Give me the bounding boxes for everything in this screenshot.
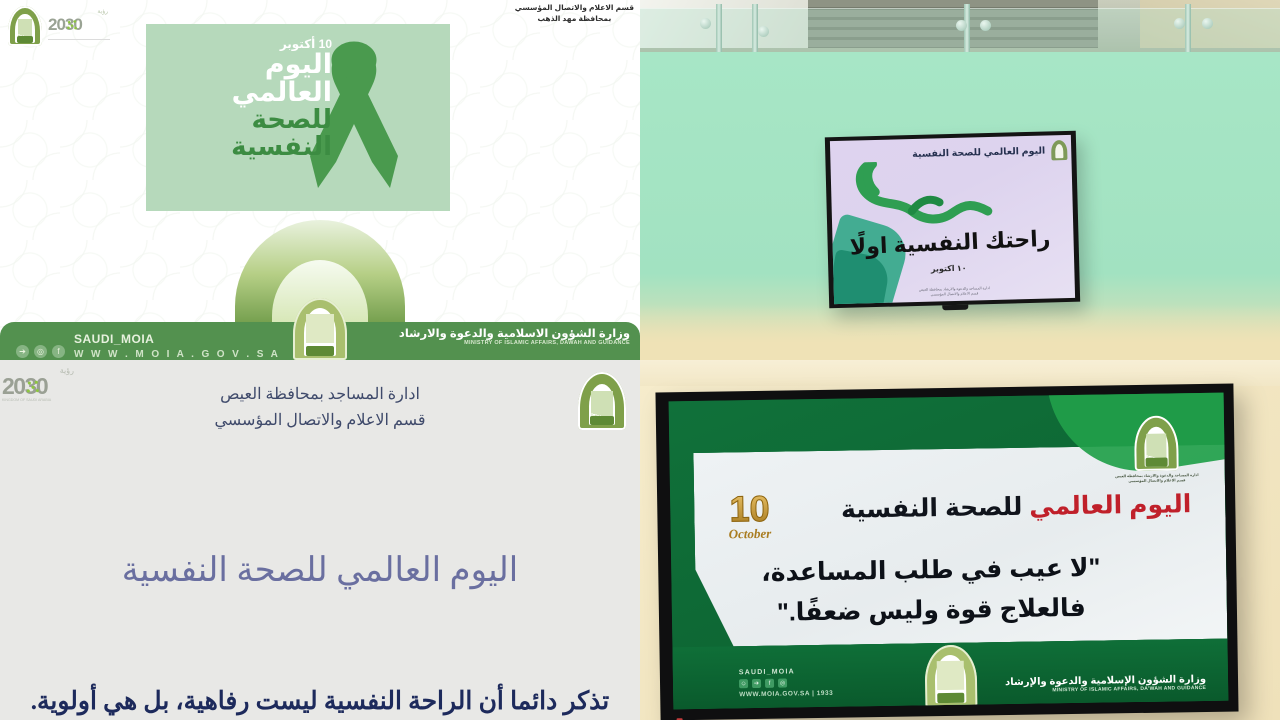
department-line-1: قسم الاعلام والاتصال المؤسسي — [515, 2, 634, 13]
large-wall-tv: ادارة المساجد والدعوة والارشاد بمحافظة ا… — [655, 383, 1238, 720]
social-icon-group: ☺ ➔ f ◎ — [739, 678, 833, 688]
tv-screen-title: اليوم العالمي للصحة النفسية — [912, 146, 1045, 160]
tv-mount — [942, 305, 968, 311]
department-caption: قسم الاعلام والاتصال المؤسسي بمحافظة مهد… — [515, 2, 634, 24]
screen-title-red: اليوم العالمي — [1029, 490, 1191, 521]
screen-title: اليوم العالمي للصحة النفسية — [841, 489, 1192, 524]
poster-footer-bar: ➔ ◎ f SAUDI_MOIA W W W . M O I A . G O V… — [0, 322, 640, 360]
moia-mihrab-logo-icon — [8, 6, 42, 46]
social-handle: SAUDI_MOIA — [739, 668, 833, 676]
social-handle: SAUDI_MOIA — [74, 332, 154, 346]
card-line-1: اليوم — [182, 51, 332, 79]
website-url: W W W . M O I A . G O V . S A — [74, 349, 280, 360]
ministry-name-block: وزارة الشؤون الإسلامية والدعوة والإرشاد … — [1005, 674, 1206, 694]
facebook-icon: f — [765, 679, 774, 688]
ministry-name-ar: وزارة الشؤون الاسلامية والدعوة والارشاد — [399, 326, 630, 340]
room-wall — [640, 360, 1280, 386]
instagram-icon: ◎ — [778, 679, 787, 688]
instagram-icon: ◎ — [34, 345, 47, 358]
ministry-name-block: وزارة الشؤون الاسلامية والدعوة والارشاد … — [399, 326, 630, 346]
screen-footer-bar: SAUDI_MOIA ☺ ➔ f ◎ WWW.MOIA.GOV.SA | 193… — [672, 639, 1228, 710]
day-badge: 10 October — [728, 492, 771, 543]
card-line-4: النفسية — [182, 133, 332, 160]
moia-mihrab-logo-icon — [1134, 415, 1179, 471]
railing-bracket — [980, 20, 991, 31]
railing-bracket — [956, 20, 967, 31]
big-tv-panel: ادارة المساجد والدعوة والارشاد بمحافظة ا… — [640, 360, 1280, 720]
ministry-name-en: MINISTRY OF ISLAMIC AFFAIRS, DAWAH AND G… — [399, 340, 630, 346]
moia-footer-badge-icon — [924, 645, 977, 708]
tv-screen-content: اليوم العالمي للصحة النفسية راحتك النفسي… — [830, 135, 1075, 304]
moia-mini-logo-icon — [1051, 140, 1068, 160]
wall-mounted-tv: اليوم العالمي للصحة النفسية راحتك النفسي… — [825, 131, 1080, 309]
slide-panel: رؤية 2030 KINGDOM OF SAUDI ARABIA ادارة … — [0, 360, 640, 720]
screen-title-black: للصحة النفسية — [841, 493, 1023, 524]
day-number: 10 — [728, 492, 771, 527]
vision-2030-logo-icon: رؤية 2030 — [48, 8, 110, 40]
card-line-3: للصحة — [182, 106, 332, 133]
social-icon-group: ➔ ◎ f — [16, 345, 65, 358]
card-line-2: العالمي — [182, 79, 332, 107]
twitter-icon: ➔ — [16, 345, 29, 358]
slide-header-line-2: قسم الاعلام والاتصال المؤسسي — [0, 408, 640, 434]
month-name: October — [729, 526, 772, 543]
slide-header: ادارة المساجد بمحافظة العيص قسم الاعلام … — [0, 382, 640, 434]
railing-post — [1185, 4, 1191, 52]
railing-bracket — [1202, 18, 1213, 29]
website-url: WWW.MOIA.GOV.SA | 1933 — [739, 690, 833, 698]
railing-bracket — [1174, 18, 1185, 29]
wall-floor-gradient — [640, 304, 1280, 360]
railing-bracket — [700, 18, 711, 29]
slide-header-line-1: ادارة المساجد بمحافظة العيص — [0, 382, 640, 408]
logo-caption: ادارة المساجد والدعوة والارشاد بمحافظة ا… — [1105, 473, 1209, 485]
railing-post — [752, 4, 758, 52]
snapchat-icon: ☺ — [739, 679, 748, 688]
tv-screen-content: ادارة المساجد والدعوة والارشاد بمحافظة ا… — [669, 393, 1229, 710]
image-collage: رؤية 2030 قسم الاعلام والاتصال المؤسسي ب… — [0, 0, 1280, 720]
mental-health-day-card: 10 أكتوبر اليوم العالمي للصحة النفسية — [146, 24, 450, 211]
twitter-icon: ➔ — [752, 679, 761, 688]
flowing-ribbon-icon — [852, 159, 999, 229]
poster-panel: رؤية 2030 قسم الاعلام والاتصال المؤسسي ب… — [0, 0, 640, 360]
slide-title: اليوم العالمي للصحة النفسية — [0, 550, 640, 590]
railing-bracket — [758, 26, 769, 37]
upper-floor-area — [640, 0, 1280, 52]
slide-quote: تذكر دائما أن الراحة النفسية ليست رفاهية… — [0, 686, 640, 716]
moia-footer-badge-icon — [293, 298, 347, 360]
wall-tv-panel: اليوم العالمي للصحة النفسية راحتك النفسي… — [640, 0, 1280, 360]
railing-post — [716, 4, 722, 52]
footer-left-block: SAUDI_MOIA ☺ ➔ f ◎ WWW.MOIA.GOV.SA | 193… — [739, 668, 833, 698]
vision-year: 2030 — [48, 16, 110, 34]
card-text-block: 10 أكتوبر اليوم العالمي للصحة النفسية — [182, 38, 332, 159]
department-line-2: بمحافظة مهد الذهب — [515, 13, 634, 24]
facebook-icon: f — [52, 345, 65, 358]
